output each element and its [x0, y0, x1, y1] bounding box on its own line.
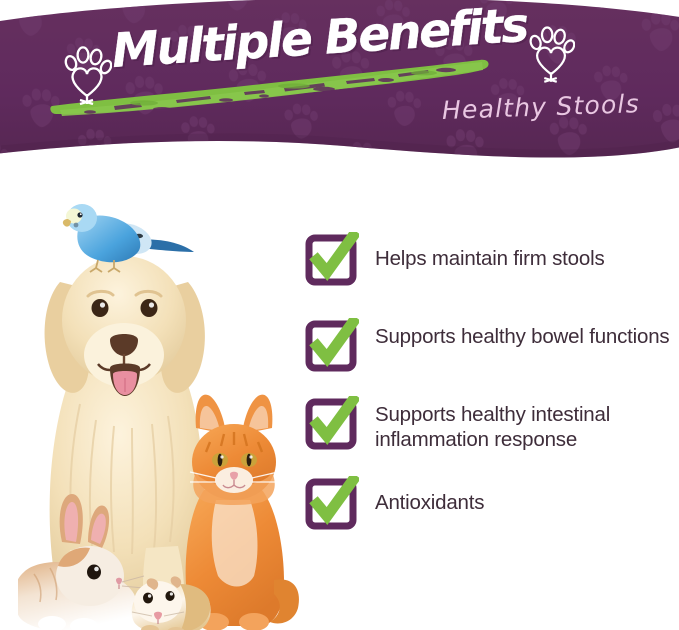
header-banner: Multiple Benefits Healthy Stools	[0, 0, 679, 176]
benefit-item: Antioxidants	[303, 476, 675, 534]
animals-photo	[18, 190, 298, 630]
checked-checkbox-icon	[303, 232, 359, 288]
checked-checkbox-icon	[303, 318, 359, 374]
benefit-item: Helps maintain firm stools	[303, 232, 675, 290]
benefit-label: Supports healthy bowel functions	[375, 318, 669, 349]
benefit-label: Supports healthy intestinal inflammation…	[375, 396, 675, 452]
banner-title: Multiple Benefits	[110, 0, 528, 79]
benefit-label: Antioxidants	[375, 476, 484, 515]
marketing-infographic: Multiple Benefits Healthy Stools	[0, 0, 679, 630]
banner-subtitle: Healthy Stools	[441, 89, 640, 125]
benefits-list: Helps maintain firm stools Supports heal…	[303, 232, 675, 534]
checked-checkbox-icon	[303, 476, 359, 532]
benefit-item: Supports healthy bowel functions	[303, 318, 675, 376]
benefit-label: Helps maintain firm stools	[375, 232, 605, 271]
checked-checkbox-icon	[303, 396, 359, 452]
benefit-item: Supports healthy intestinal inflammation…	[303, 396, 675, 454]
animals-illustration	[18, 190, 308, 630]
